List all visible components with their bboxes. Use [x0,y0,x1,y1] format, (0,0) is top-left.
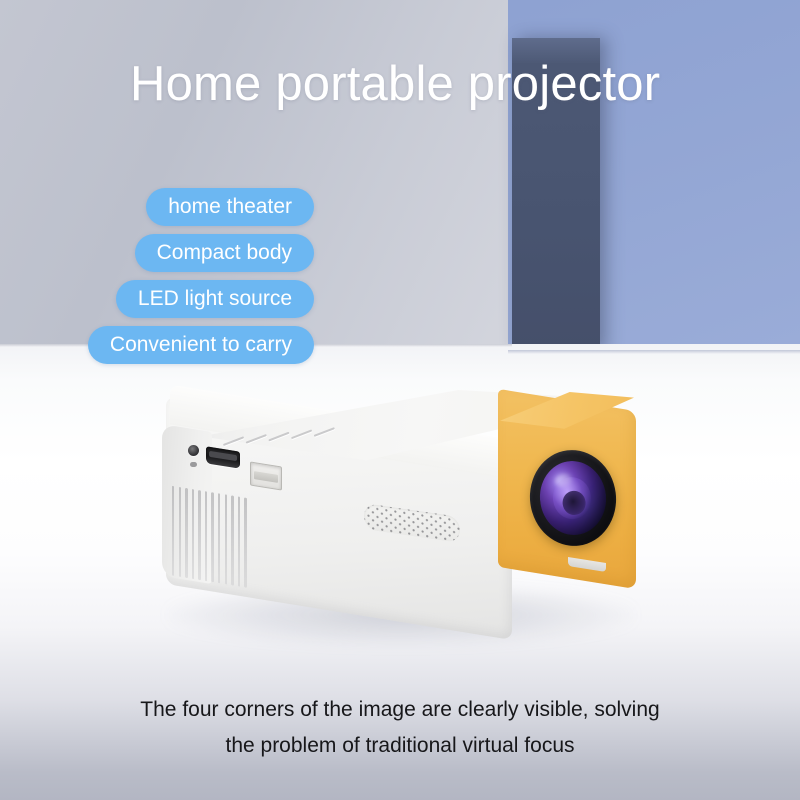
caption-line-1: The four corners of the image are clearl… [0,692,800,728]
feature-pill-label: home theater [168,195,292,219]
feature-pill-convenient-to-carry[interactable]: Convenient to carry [88,326,314,364]
feature-pill-label: Compact body [157,241,292,265]
product-banner: Home portable projector home theater Com… [0,0,800,800]
caption-line-2: the problem of traditional virtual focus [0,728,800,764]
feature-pill-label: Convenient to carry [110,333,292,357]
ventilation-slats-icon [172,486,250,589]
audio-jack-icon [188,445,199,456]
page-title: Home portable projector [130,58,660,111]
product-image-projector [150,388,650,658]
indicator-slot-icon [190,462,197,467]
feature-pill-home-theater[interactable]: home theater [146,188,314,226]
feature-pill-label: LED light source [138,287,292,311]
lens-glass-icon [536,457,611,538]
feature-pill-compact-body[interactable]: Compact body [135,234,314,272]
caption-block: The four corners of the image are clearl… [0,692,800,764]
feature-pill-list: home theater Compact body LED light sour… [0,188,314,364]
feature-pill-led-light-source[interactable]: LED light source [116,280,314,318]
floor-seam-right [508,350,800,354]
